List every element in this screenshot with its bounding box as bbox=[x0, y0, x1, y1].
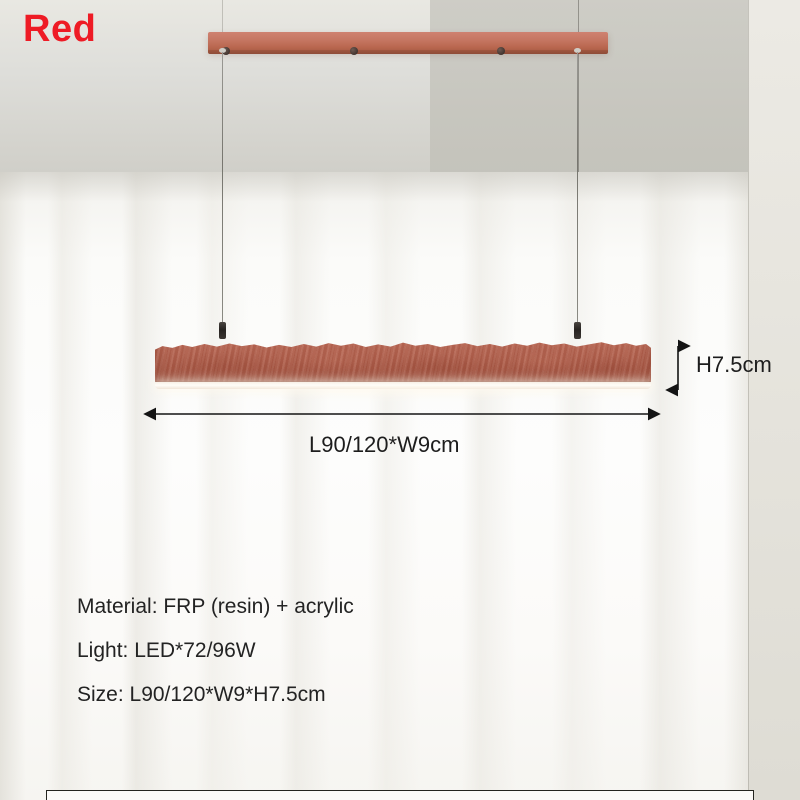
color-variant-label: Red bbox=[23, 8, 96, 51]
curtain-top-shadow bbox=[0, 172, 752, 202]
ceiling-canopy bbox=[208, 32, 608, 52]
suspension-cable-right bbox=[577, 52, 578, 324]
ceiling-canopy-underside bbox=[208, 50, 608, 54]
wall-corner-edge bbox=[748, 0, 749, 800]
spec-light: Light: LED*72/96W bbox=[77, 629, 354, 673]
led-diffuser-strip bbox=[155, 382, 651, 389]
canopy-screw bbox=[350, 47, 358, 55]
product-photo: L90/120*W9cm H7.5cm Red Material: FRP (r… bbox=[0, 0, 800, 800]
spec-size: Size: L90/120*W9*H7.5cm bbox=[77, 673, 354, 717]
cable-clamp-left bbox=[219, 322, 226, 339]
spec-material: Material: FRP (resin) + acrylic bbox=[77, 585, 354, 629]
specification-list: Material: FRP (resin) + acrylic Light: L… bbox=[77, 585, 354, 717]
right-wall bbox=[748, 0, 800, 800]
cable-clamp-right bbox=[574, 322, 581, 339]
rock-surface-detail bbox=[155, 340, 651, 384]
height-dimension-label: H7.5cm bbox=[696, 352, 772, 378]
bottom-frame-border bbox=[46, 790, 754, 800]
canopy-screw bbox=[497, 47, 505, 55]
suspension-cable-left bbox=[222, 52, 223, 324]
width-dimension-label: L90/120*W9cm bbox=[309, 432, 459, 458]
pendant-lamp-fixture bbox=[155, 340, 651, 392]
ceiling-shadow bbox=[430, 0, 750, 180]
